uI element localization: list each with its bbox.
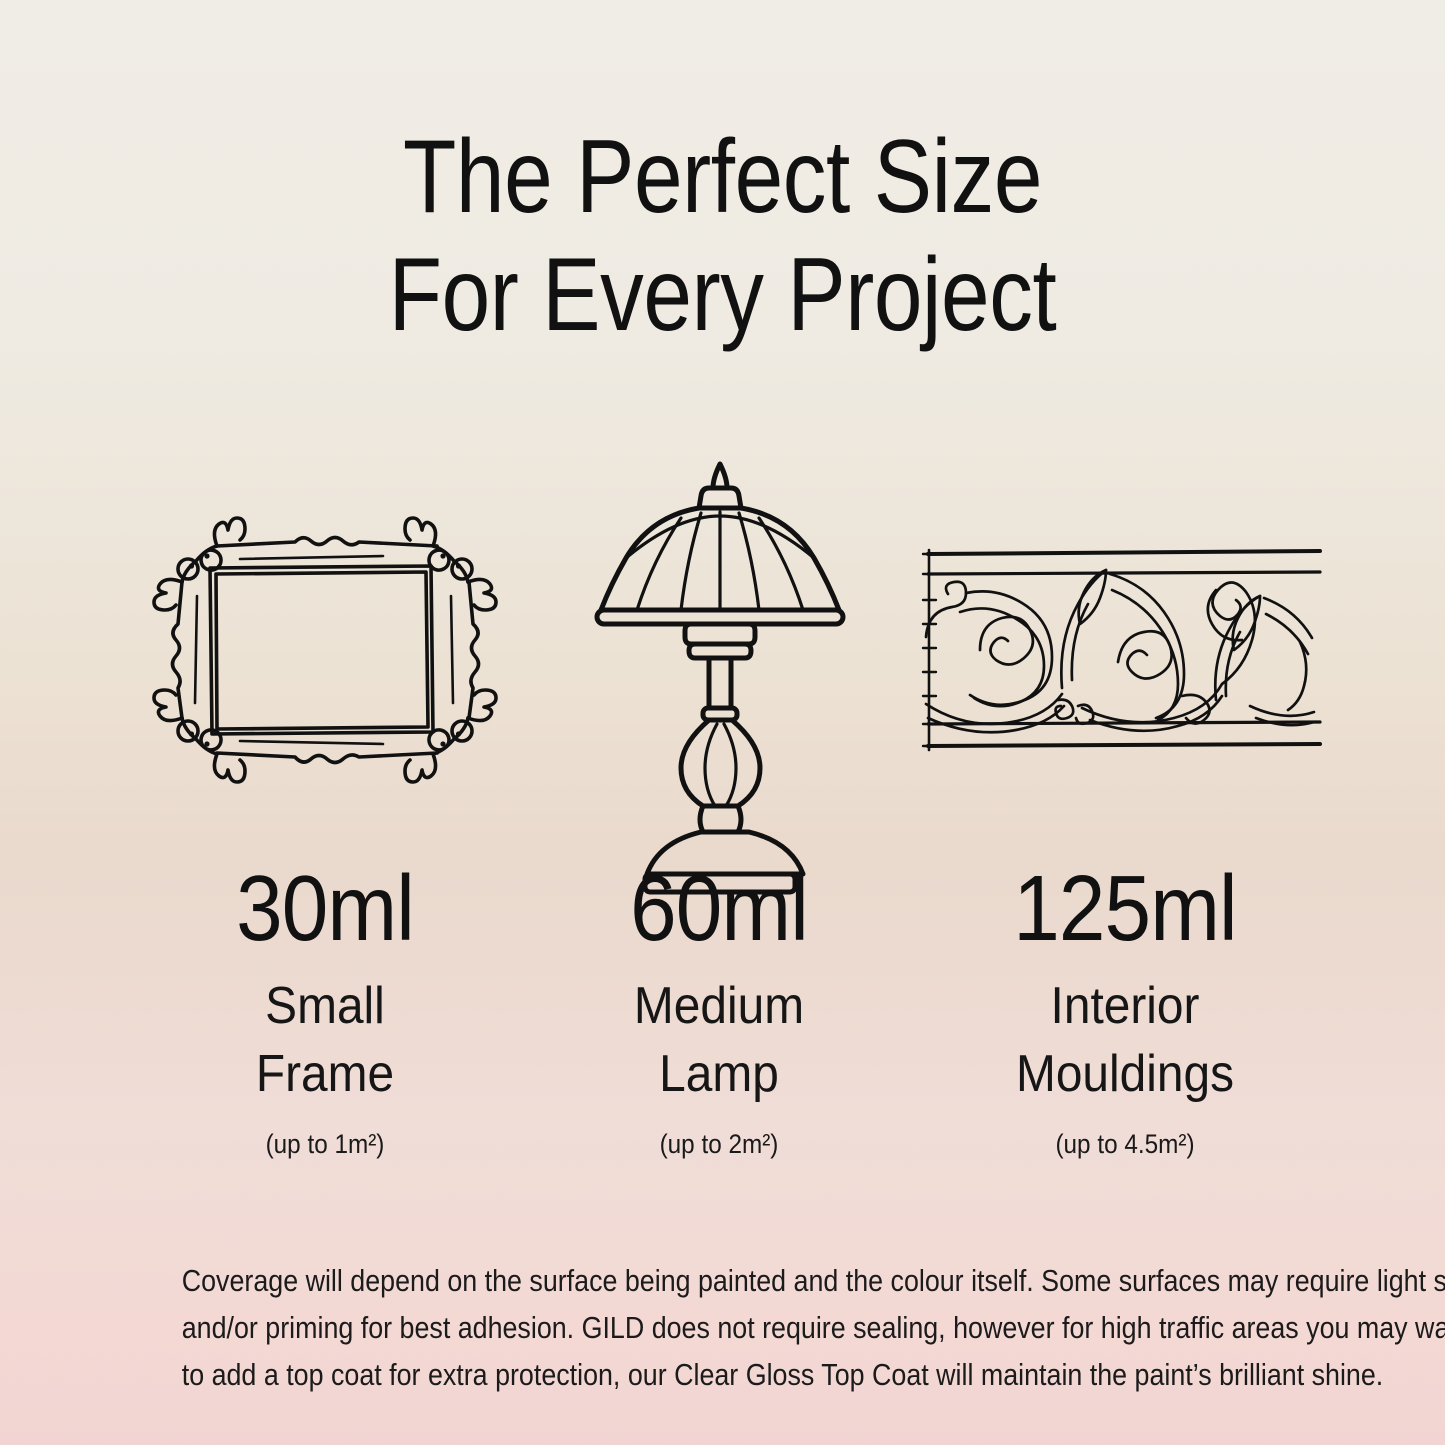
scroll-moulding-icon [900,440,1340,860]
infographic-canvas: The Perfect Size For Every Project [0,0,1445,1445]
use-label-line-1: Small [132,972,518,1040]
page-title: The Perfect Size For Every Project [0,118,1445,354]
volume-label: 125ml [936,858,1314,958]
use-label-line-2: Lamp [526,1040,912,1108]
use-label-line-2: Frame [132,1040,518,1108]
coverage-label: (up to 4.5m²) [936,1128,1314,1160]
use-label-line-2: Mouldings [932,1040,1318,1108]
volume-label: 60ml [530,858,908,958]
size-option-medium: 60ml Medium Lamp (up to 2m²) [509,858,929,1160]
title-line-1: The Perfect Size [116,118,1330,236]
disclaimer-line-3: to add a top coat for extra protection, … [182,1352,1264,1399]
size-options: 30ml Small Frame (up to 1m²) 60ml Medium… [0,858,1445,1188]
size-option-small: 30ml Small Frame (up to 1m²) [115,858,535,1160]
disclaimer-text: Coverage will depend on the surface bein… [108,1258,1337,1399]
disclaimer-line-2: and/or priming for best adhesion. GILD d… [182,1305,1264,1352]
disclaimer-line-1: Coverage will depend on the surface bein… [182,1258,1264,1305]
size-option-large: 125ml Interior Mouldings (up to 4.5m²) [915,858,1335,1160]
use-label-line-1: Interior [932,972,1318,1040]
ornate-picture-frame-icon [110,440,540,860]
title-line-2: For Every Project [116,236,1330,354]
table-lamp-icon [545,440,895,860]
coverage-label: (up to 2m²) [530,1128,908,1160]
use-label-line-1: Medium [526,972,912,1040]
volume-label: 30ml [136,858,514,958]
illustration-row [0,440,1445,860]
coverage-label: (up to 1m²) [136,1128,514,1160]
